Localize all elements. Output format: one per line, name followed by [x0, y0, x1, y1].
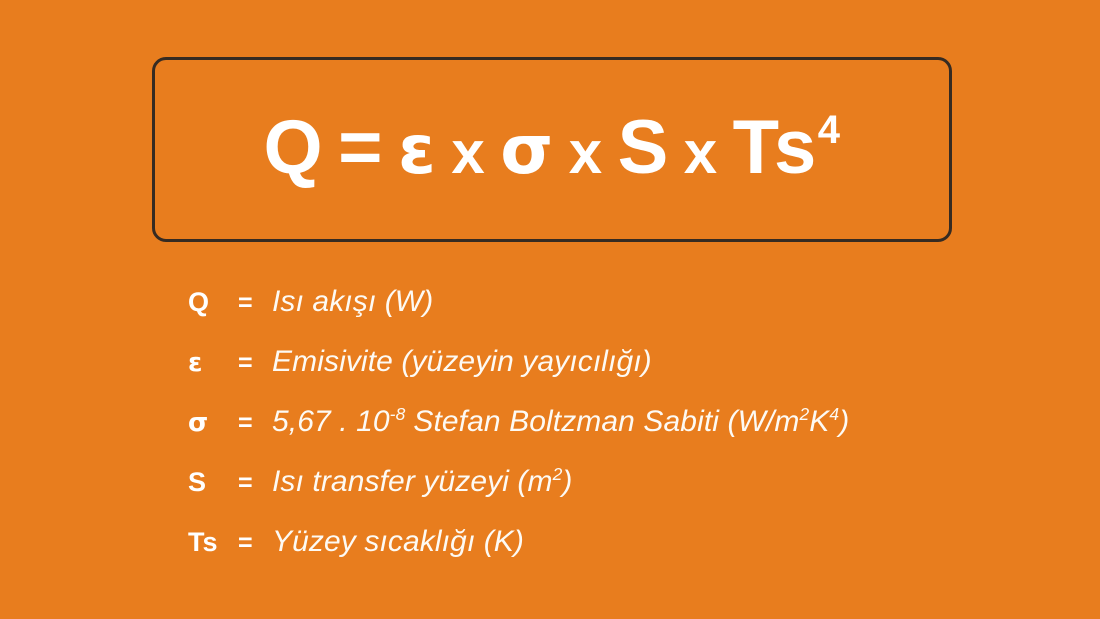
- formula-symbol-q: Q: [264, 110, 324, 186]
- stefan-boltzmann-formula: Q = ε x σ x S x Ts4: [264, 110, 841, 186]
- legend-symbol-s: S: [188, 467, 238, 498]
- legend-symbol-ts: Ts: [188, 527, 238, 558]
- formula-multiply-3: x: [684, 123, 718, 183]
- sigma-name-unit: Stefan Boltzman Sabiti (W/m: [413, 405, 799, 438]
- sigma-unit-close: ): [839, 405, 849, 438]
- legend-equals-s: =: [238, 469, 272, 498]
- legend-row-ts: Ts = Yüzey sıcaklığı (K): [188, 525, 1068, 585]
- sigma-value-exponent: -8: [390, 404, 406, 424]
- legend-description-s: Isı transfer yüzeyi (m2): [272, 465, 572, 499]
- legend-equals-epsilon: =: [238, 349, 272, 378]
- s-unit-exponent: 2: [553, 464, 563, 484]
- legend-symbol-epsilon: ε: [188, 348, 238, 378]
- formula-symbol-epsilon: ε: [398, 117, 436, 185]
- formula-ts-base: Ts: [733, 105, 817, 190]
- formula-equals: =: [338, 110, 383, 186]
- formula-box: Q = ε x σ x S x Ts4: [152, 57, 952, 242]
- legend-row-epsilon: ε = Emisivite (yüzeyin yayıcılığı): [188, 345, 1068, 405]
- sigma-unit-exponent-2: 4: [829, 404, 839, 424]
- s-unit-close: ): [562, 465, 572, 498]
- legend-equals-q: =: [238, 289, 272, 318]
- legend-symbol-sigma: σ: [188, 408, 238, 438]
- slide-canvas: Q = ε x σ x S x Ts4 Q = Isı akışı (W) ε …: [0, 0, 1100, 619]
- formula-symbol-ts: Ts4: [733, 110, 841, 186]
- legend-row-s: S = Isı transfer yüzeyi (m2): [188, 465, 1068, 525]
- legend-description-epsilon: Emisivite (yüzeyin yayıcılığı): [272, 345, 652, 379]
- legend-description-q: Isı akışı (W): [272, 285, 433, 319]
- legend-symbol-q: Q: [188, 287, 238, 318]
- sigma-value: 5,67 . 10: [272, 405, 390, 438]
- formula-symbol-s: S: [618, 110, 669, 186]
- legend-description-ts: Yüzey sıcaklığı (K): [272, 525, 524, 559]
- s-description-text: Isı transfer yüzeyi (m: [272, 465, 553, 498]
- formula-ts-exponent: 4: [818, 108, 841, 152]
- formula-multiply-2: x: [569, 123, 603, 183]
- legend-equals-ts: =: [238, 529, 272, 558]
- sigma-unit-exponent-1: 2: [800, 404, 810, 424]
- variable-legend: Q = Isı akışı (W) ε = Emisivite (yüzeyin…: [188, 285, 1068, 585]
- formula-symbol-sigma: σ: [500, 117, 553, 185]
- legend-row-q: Q = Isı akışı (W): [188, 285, 1068, 345]
- sigma-unit-mid: K: [809, 405, 829, 438]
- legend-row-sigma: σ = 5,67 . 10-8Stefan Boltzman Sabiti (W…: [188, 405, 1068, 465]
- formula-multiply-1: x: [451, 123, 485, 183]
- legend-description-sigma: 5,67 . 10-8Stefan Boltzman Sabiti (W/m2K…: [272, 405, 849, 439]
- legend-equals-sigma: =: [238, 409, 272, 438]
